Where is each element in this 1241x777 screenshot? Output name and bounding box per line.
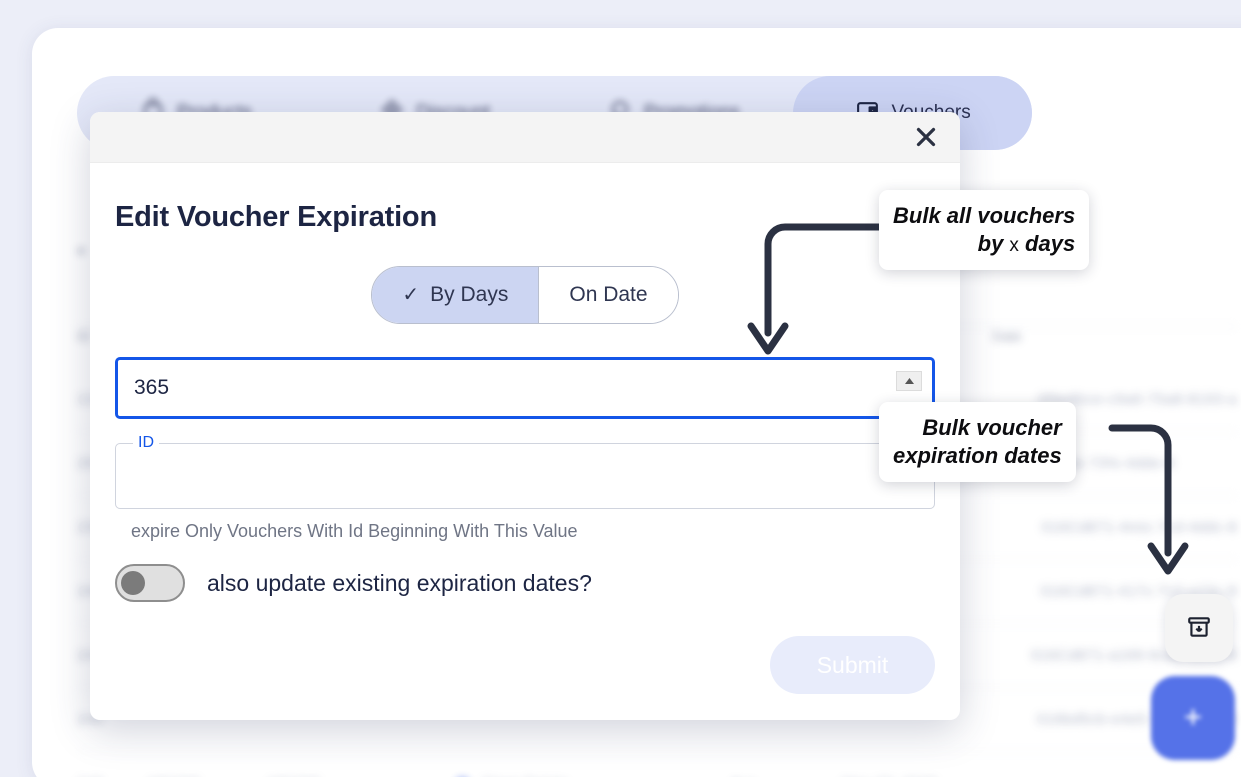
id-input[interactable] (116, 444, 934, 508)
callout-line-1: Bulk all vouchers (893, 202, 1075, 230)
mode-by-days-button[interactable]: ✓ By Days (372, 267, 538, 323)
annotation-callout-bulk-days: Bulk all vouchers by x days (879, 190, 1089, 270)
close-icon (911, 122, 941, 155)
update-existing-label: also update existing expiration dates? (207, 570, 592, 597)
dialog-body: Edit Voucher Expiration ✓ By Days On Dat… (90, 201, 960, 694)
update-existing-toggle[interactable] (115, 564, 185, 602)
callout-line-1: Bulk voucher (893, 414, 1062, 442)
archive-button[interactable] (1165, 594, 1233, 662)
update-existing-toggle-row: also update existing expiration dates? (115, 564, 935, 602)
days-input[interactable] (118, 360, 932, 416)
callout-line-2: expiration dates (893, 442, 1062, 470)
table-sort-icon: ● (77, 242, 85, 258)
id-field: ID (115, 443, 935, 509)
annotation-callout-bulk-dates: Bulk voucher expiration dates (879, 402, 1076, 482)
mode-label: By Days (430, 283, 508, 307)
table-row[interactable]: 248 ABCDE ABCDE Store Points ■ ● May 20,… (77, 752, 1237, 777)
dialog-header (90, 112, 960, 163)
callout-line-2: by x days (893, 230, 1075, 258)
days-field (115, 357, 935, 419)
dialog-actions: Submit (115, 636, 935, 694)
table-header-id: ID (77, 328, 91, 344)
mode-on-date-button[interactable]: On Date (539, 267, 677, 323)
row-text: 016Cd871-4mic-7cd-4ddc-8 (1041, 519, 1237, 536)
add-button[interactable] (1151, 676, 1235, 760)
expiration-mode-toggle-group: ✓ By Days On Date (115, 266, 935, 324)
mode-label: On Date (569, 283, 647, 307)
toggle-knob (121, 571, 145, 595)
page-title: Edit Voucher Expiration (115, 201, 935, 234)
submit-button[interactable]: Submit (770, 636, 935, 694)
spinner-up-icon (904, 372, 915, 390)
screen: Products Discount Promotions (0, 0, 1241, 777)
edit-voucher-expiration-dialog: Edit Voucher Expiration ✓ By Days On Dat… (90, 112, 960, 720)
check-icon: ✓ (402, 285, 419, 305)
plus-icon (1180, 704, 1206, 733)
archive-download-icon (1186, 614, 1212, 643)
close-button[interactable] (904, 116, 948, 160)
id-field-label: ID (133, 434, 159, 452)
id-field-helper-text: expire Only Vouchers With Id Beginning W… (115, 521, 935, 542)
table-header-date: Date (992, 328, 1022, 344)
days-spinner-up[interactable] (896, 371, 922, 391)
